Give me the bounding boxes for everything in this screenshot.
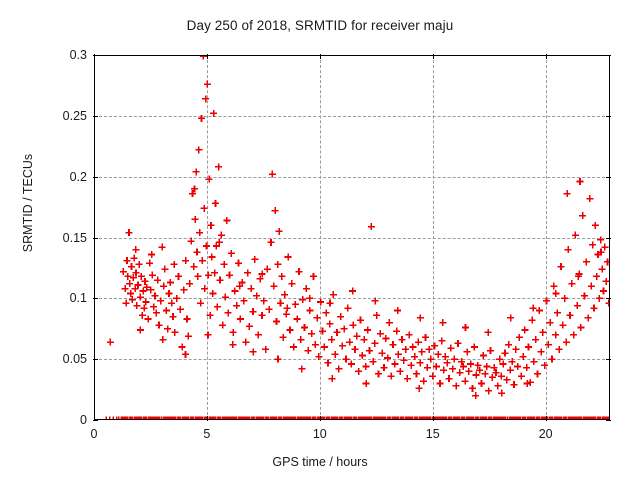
y-tick-label: 0.05 — [63, 352, 87, 366]
y-axis-tick — [606, 177, 611, 178]
x-axis-tick — [546, 416, 547, 421]
y-axis-tick — [606, 298, 611, 299]
y-tick-label: 0.15 — [63, 231, 87, 245]
y-axis-tick — [93, 55, 98, 56]
y-axis-tick — [93, 116, 98, 117]
x-tick-label: 0 — [91, 427, 98, 441]
x-axis-tick — [433, 416, 434, 421]
x-axis-tick — [546, 54, 547, 59]
y-axis-tick — [93, 298, 98, 299]
y-axis-tick — [606, 420, 611, 421]
plot-frame — [94, 55, 610, 420]
x-tick-label: 5 — [203, 427, 210, 441]
x-tick-label: 15 — [426, 427, 440, 441]
y-axis-tick — [93, 238, 98, 239]
x-tick-label: 10 — [313, 427, 327, 441]
y-axis-label: SRMTID / TECUs — [21, 123, 35, 283]
y-tick-label: 0 — [80, 413, 87, 427]
x-axis-label: GPS time / hours — [0, 455, 640, 469]
y-tick-label: 0.3 — [70, 48, 87, 62]
x-axis-tick — [433, 54, 434, 59]
chart-title: Day 250 of 2018, SRMTID for receiver maj… — [0, 18, 640, 33]
y-axis-tick — [606, 238, 611, 239]
y-axis-tick — [93, 420, 98, 421]
x-axis-tick — [207, 416, 208, 421]
plot-area: 05101520 00.050.10.150.20.250.3 — [94, 55, 610, 420]
chart-root: Day 250 of 2018, SRMTID for receiver maj… — [0, 0, 640, 480]
y-axis-tick — [93, 359, 98, 360]
y-axis-tick — [606, 55, 611, 56]
y-axis-tick — [606, 359, 611, 360]
y-tick-label: 0.1 — [70, 291, 87, 305]
x-tick-label: 20 — [539, 427, 553, 441]
y-axis-tick — [606, 116, 611, 117]
x-axis-tick — [320, 54, 321, 59]
y-tick-label: 0.25 — [63, 109, 87, 123]
y-tick-label: 0.2 — [70, 170, 87, 184]
y-axis-tick — [93, 177, 98, 178]
x-axis-tick — [320, 416, 321, 421]
x-axis-tick — [207, 54, 208, 59]
